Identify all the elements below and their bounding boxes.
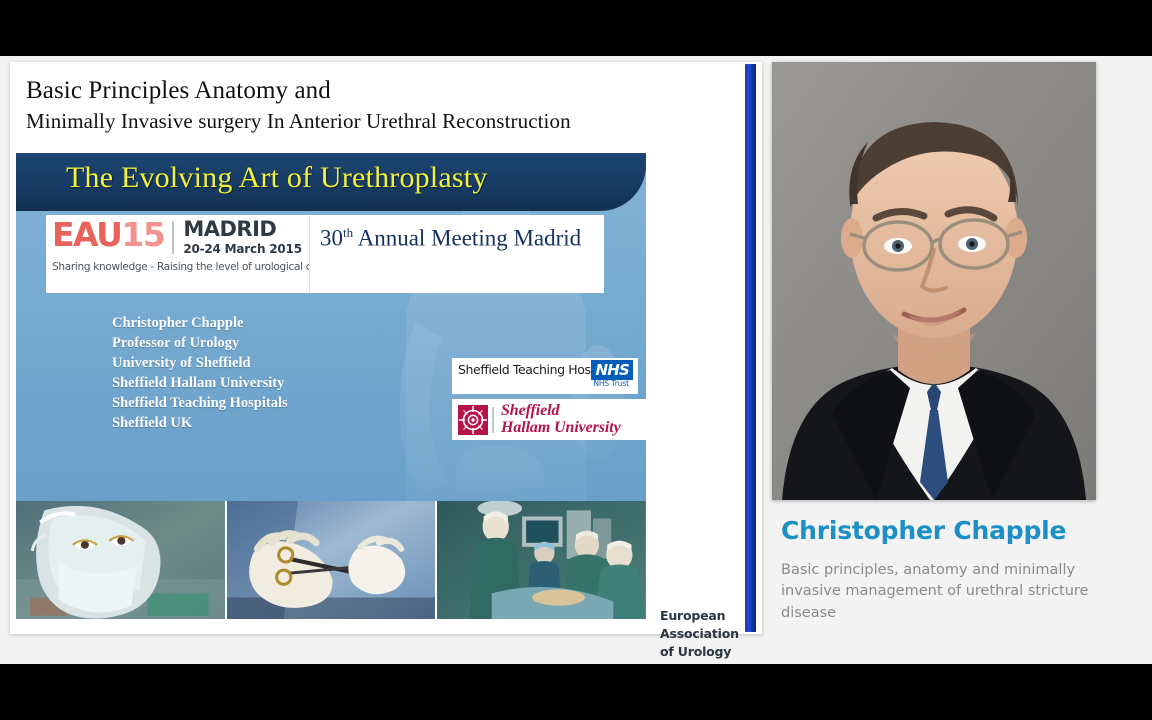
- eau-footer-line: of Urology: [660, 643, 739, 661]
- slide-title-band: The Evolving Art of Urethroplasty: [16, 153, 646, 211]
- slide-scrollbar-thumb[interactable]: [745, 64, 756, 632]
- eau-logo-divider: [172, 221, 174, 254]
- eau-footer-line: Association: [660, 625, 739, 643]
- eau15-wordmark: EAU15: [52, 219, 164, 251]
- eau-footer-line: European: [660, 607, 739, 625]
- surgery-photo-strip: [16, 501, 646, 619]
- speaker-portrait-photo: [772, 62, 1096, 500]
- speaker-name: Christopher Chapple: [781, 516, 1111, 545]
- author-line: Sheffield Hallam University: [112, 373, 288, 393]
- author-affiliation-block: Christopher Chapple Professor of Urology…: [112, 313, 288, 433]
- author-line: Christopher Chapple: [112, 313, 288, 333]
- hallam-crest-icon: [458, 405, 488, 435]
- slide-heading-line2: Minimally Invasive surgery In Anterior U…: [26, 108, 726, 135]
- slide-heading: Basic Principles Anatomy and Minimally I…: [26, 76, 726, 135]
- eau-logo-tagline: Sharing knowledge - Raising the level of…: [52, 261, 310, 273]
- eau-logo-city: MADRID: [183, 219, 302, 240]
- gloved-hand-passing-scissors-photo: [225, 501, 436, 619]
- hallam-wordmark-line2: Hallam University: [501, 420, 621, 437]
- hallam-wordmark: Sheffield Hallam University: [501, 403, 621, 437]
- hallam-logo-divider: [492, 407, 494, 433]
- eau-logo-dates: 20-24 March 2015: [183, 242, 302, 256]
- meeting-title-banner: 30th Annual Meeting Madrid: [309, 215, 604, 293]
- speaker-description: Basic principles, anatomy and minimally …: [781, 560, 1099, 624]
- author-line: Sheffield UK: [112, 413, 288, 433]
- hallam-wordmark-line1: Sheffield: [501, 403, 621, 420]
- operating-theatre-team-photo: [435, 501, 646, 619]
- slide-heading-line1: Basic Principles Anatomy and: [26, 76, 726, 106]
- letterbox-bar-top: [0, 0, 1152, 56]
- surgeon-with-face-shield-photo: [16, 501, 225, 619]
- meeting-ordinal-suffix: th: [343, 225, 353, 240]
- author-line: Sheffield Teaching Hospitals: [112, 393, 288, 413]
- author-line: University of Sheffield: [112, 353, 288, 373]
- meeting-title-text: 30th Annual Meeting Madrid: [320, 225, 581, 252]
- video-player-viewport: Basic Principles Anatomy and Minimally I…: [0, 0, 1152, 720]
- slide-card[interactable]: Basic Principles Anatomy and Minimally I…: [10, 62, 762, 634]
- presentation-slide: The Evolving Art of Urethroplasty EAU15 …: [16, 153, 646, 619]
- letterbox-bar-bottom: [0, 664, 1152, 720]
- nhs-trust-subtitle: NHS Trust: [593, 379, 629, 388]
- slide-scrollbar[interactable]: [740, 62, 760, 634]
- nhs-wordmark: NHS: [591, 360, 633, 380]
- author-line: Professor of Urology: [112, 333, 288, 353]
- slide-title: The Evolving Art of Urethroplasty: [66, 161, 488, 195]
- nhs-trust-logo: Sheffield Teaching Hospitals NHS NHS Tru…: [452, 358, 638, 394]
- eau-footer-text: European Association of Urology: [660, 607, 739, 660]
- sheffield-hallam-logo: Sheffield Hallam University: [452, 399, 646, 440]
- eau15-logo: EAU15 MADRID 20-24 March 2015 Sharing kn…: [46, 215, 316, 293]
